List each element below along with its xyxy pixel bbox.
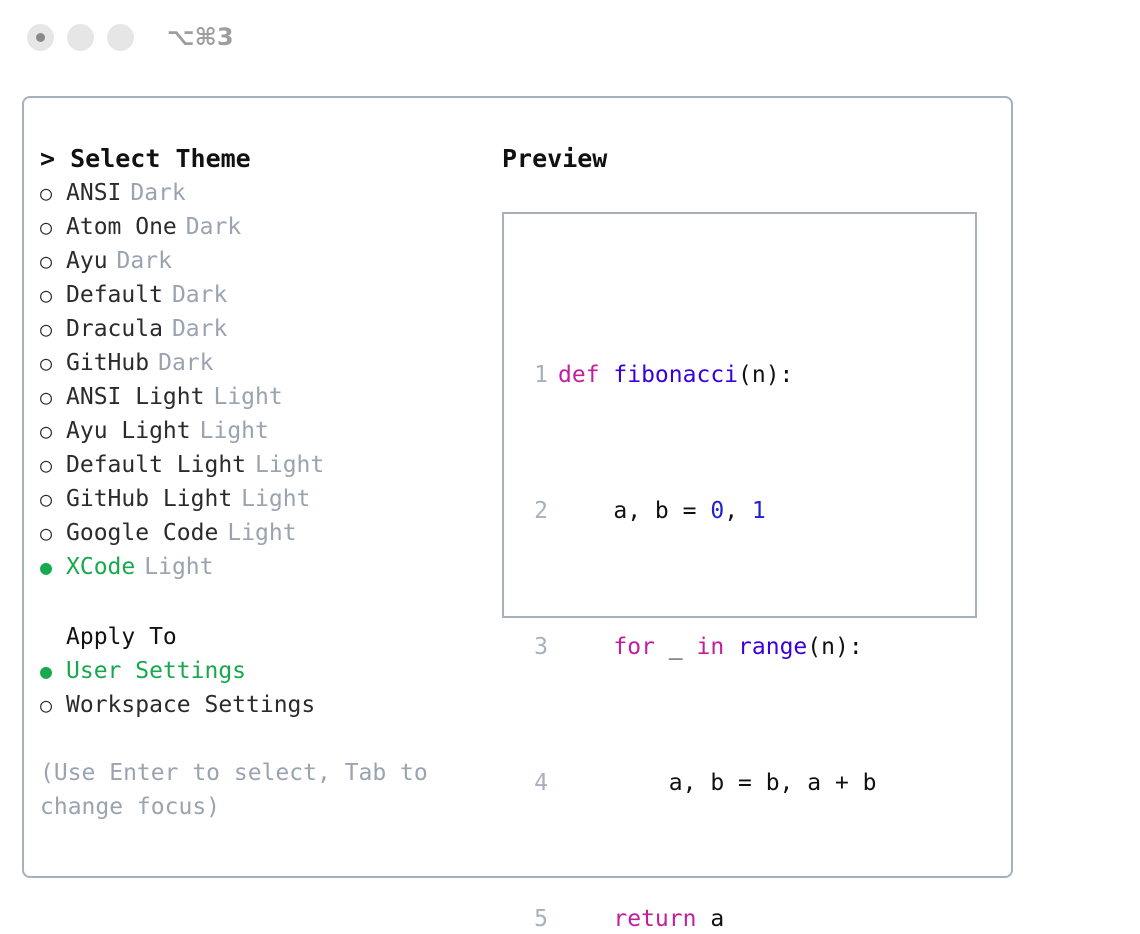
code-token-number: 0 <box>710 498 724 524</box>
theme-option-tag: Light <box>255 448 324 482</box>
radio-icon: ○ <box>40 176 66 210</box>
theme-option-tag: Dark <box>130 176 185 210</box>
preview-title: Preview <box>502 142 992 176</box>
theme-option-ansi[interactable]: ○ ANSI Dark <box>40 176 480 210</box>
theme-option-tag: Light <box>200 414 269 448</box>
code-token-plain <box>724 634 738 660</box>
radio-icon: ○ <box>40 414 66 448</box>
code-token-plain <box>558 634 613 660</box>
line-number: 1 <box>522 358 548 392</box>
code-token-plain: (n): <box>807 634 862 660</box>
theme-option-dracula[interactable]: ○ Dracula Dark <box>40 312 480 346</box>
theme-option-label: ANSI Light <box>66 380 204 414</box>
radio-selected-icon: ● <box>40 654 66 688</box>
theme-option-label: Default <box>66 278 163 312</box>
theme-option-label: Default Light <box>66 448 246 482</box>
theme-option-label: Ayu Light <box>66 414 191 448</box>
radio-icon: ○ <box>40 482 66 516</box>
keyboard-hint: (Use Enter to select, Tab to change focu… <box>40 756 440 824</box>
window-control-record[interactable] <box>27 24 54 51</box>
radio-icon: ○ <box>40 516 66 550</box>
code-line: 2 a, b = 0, 1 <box>522 494 904 528</box>
theme-picker: > Select Theme ○ ANSI Dark ○ Atom One Da… <box>40 142 480 824</box>
code-token-keyword: for <box>613 634 655 660</box>
code-token-plain: _ <box>655 634 697 660</box>
radio-icon: ○ <box>40 210 66 244</box>
shortcut-label: ⌥⌘3 <box>167 23 234 51</box>
code-token-plain: a, b = b, a + b <box>558 770 877 796</box>
radio-icon: ○ <box>40 312 66 346</box>
code-line: 5 return a <box>522 902 904 934</box>
theme-option-label: ANSI <box>66 176 121 210</box>
theme-option-google-code[interactable]: ○ Google Code Light <box>40 516 480 550</box>
radio-icon: ○ <box>40 688 66 722</box>
code-token-plain: a <box>696 906 724 932</box>
theme-option-default[interactable]: ○ Default Dark <box>40 278 480 312</box>
radio-icon: ○ <box>40 278 66 312</box>
theme-option-xcode[interactable]: ● XCode Light <box>40 550 480 584</box>
line-number: 3 <box>522 630 548 664</box>
theme-option-tag: Dark <box>172 312 227 346</box>
code-token-keyword: def <box>558 362 613 388</box>
code-token-function: fibonacci <box>613 362 738 388</box>
theme-option-label: GitHub <box>66 346 149 380</box>
preview-code: 1def fibonacci(n): 2 a, b = 0, 1 3 for _… <box>522 256 904 934</box>
apply-to-title: Apply To <box>40 620 480 654</box>
theme-option-github[interactable]: ○ GitHub Dark <box>40 346 480 380</box>
theme-picker-title: > Select Theme <box>40 142 480 176</box>
preview-pane: Preview 1def fibonacci(n): 2 a, b = 0, 1… <box>502 142 992 618</box>
apply-to-option-workspace-settings[interactable]: ○ Workspace Settings <box>40 688 480 722</box>
code-token-plain: (n): <box>738 362 793 388</box>
hint-spacer <box>40 722 480 756</box>
theme-option-tag: Light <box>227 516 296 550</box>
theme-option-tag: Light <box>241 482 310 516</box>
theme-option-label: Ayu <box>66 244 108 278</box>
code-token-plain: , <box>724 498 752 524</box>
record-dot-icon <box>36 33 45 42</box>
theme-option-tag: Dark <box>186 210 241 244</box>
window-control-second[interactable] <box>67 24 94 51</box>
window-controls <box>27 24 134 51</box>
theme-option-label: Dracula <box>66 312 163 346</box>
theme-option-label: GitHub Light <box>66 482 232 516</box>
line-number: 5 <box>522 902 548 934</box>
theme-option-atom-one[interactable]: ○ Atom One Dark <box>40 210 480 244</box>
code-token-plain <box>558 906 613 932</box>
code-line: 4 a, b = b, a + b <box>522 766 904 800</box>
theme-option-tag: Dark <box>117 244 172 278</box>
theme-option-ayu[interactable]: ○ Ayu Dark <box>40 244 480 278</box>
theme-option-tag: Dark <box>172 278 227 312</box>
code-token-number: 1 <box>752 498 766 524</box>
window-control-third[interactable] <box>107 24 134 51</box>
apply-to-option-label: Workspace Settings <box>66 688 315 722</box>
theme-option-default-light[interactable]: ○ Default Light Light <box>40 448 480 482</box>
code-token-function: range <box>738 634 807 660</box>
preview-box: 1def fibonacci(n): 2 a, b = 0, 1 3 for _… <box>502 212 977 618</box>
theme-option-ansi-light[interactable]: ○ ANSI Light Light <box>40 380 480 414</box>
radio-icon: ○ <box>40 346 66 380</box>
code-token-keyword: return <box>613 906 696 932</box>
theme-option-github-light[interactable]: ○ GitHub Light Light <box>40 482 480 516</box>
radio-icon: ○ <box>40 244 66 278</box>
radio-selected-icon: ● <box>40 550 66 584</box>
section-spacer <box>40 584 480 620</box>
app-window: ⌥⌘3 > Select Theme ○ ANSI Dark ○ Atom On… <box>0 0 1140 934</box>
theme-option-label: Atom One <box>66 210 177 244</box>
theme-option-tag: Dark <box>158 346 213 380</box>
theme-option-label: Google Code <box>66 516 218 550</box>
line-number: 4 <box>522 766 548 800</box>
apply-to-option-user-settings[interactable]: ● User Settings <box>40 654 480 688</box>
theme-option-ayu-light[interactable]: ○ Ayu Light Light <box>40 414 480 448</box>
theme-option-label: XCode <box>66 550 135 584</box>
main-panel: > Select Theme ○ ANSI Dark ○ Atom One Da… <box>22 96 1013 878</box>
title-bar: ⌥⌘3 <box>0 0 1140 78</box>
code-line: 3 for _ in range(n): <box>522 630 904 664</box>
apply-to-option-label: User Settings <box>66 654 246 688</box>
radio-icon: ○ <box>40 448 66 482</box>
line-number: 2 <box>522 494 548 528</box>
radio-icon: ○ <box>40 380 66 414</box>
code-token-plain: a, b = <box>558 498 710 524</box>
code-line: 1def fibonacci(n): <box>522 358 904 392</box>
theme-option-tag: Light <box>213 380 282 414</box>
theme-option-tag: Light <box>144 550 213 584</box>
code-token-keyword: in <box>696 634 724 660</box>
